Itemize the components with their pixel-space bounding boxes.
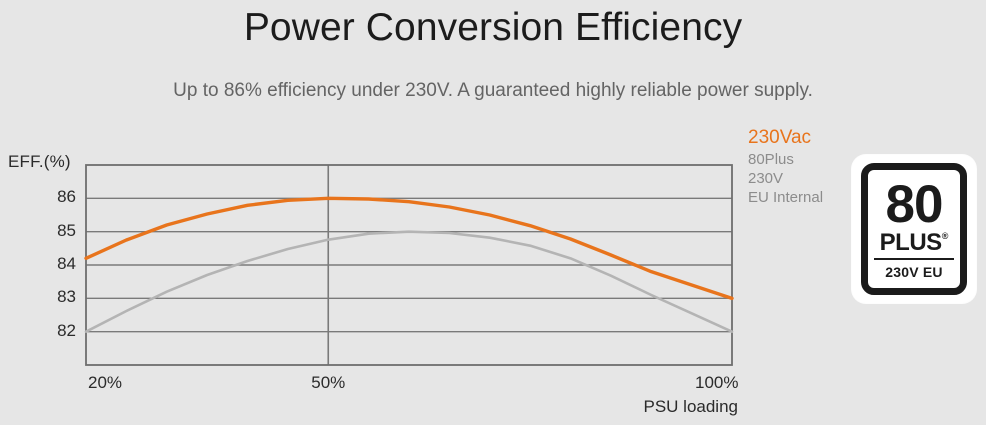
y-tick-label-4: 82 [36,321,76,341]
efficiency-infographic: Power Conversion Efficiency Up to 86% ef… [0,0,986,425]
y-tick-label-2: 84 [36,254,76,274]
badge-frame: 80 PLUS ® 230V EU [861,163,967,295]
legend-item-80plus-line-1: 230V [748,169,868,188]
badge-plus-row: PLUS ® [880,231,949,255]
80plus-certification-badge: 80 PLUS ® 230V EU [852,155,976,303]
legend-item-80plus-line-2: EU Internal [748,188,868,207]
legend-item-230vac: 230Vac [748,126,868,150]
y-tick-label-1: 85 [36,221,76,241]
page-title: Power Conversion Efficiency [0,4,986,52]
chart-legend: 230Vac 80Plus 230V EU Internal [748,126,868,207]
y-tick-label-0: 86 [36,187,76,207]
badge-divider [874,258,954,260]
y-tick-label-3: 83 [36,287,76,307]
x-tick-label-1: 50% [311,373,345,393]
registered-trademark-icon: ® [942,232,949,241]
x-axis-title: PSU loading [632,397,738,417]
x-tick-label-0: 20% [88,373,122,393]
badge-subtitle: 230V EU [885,264,942,280]
legend-item-80plus-line-0: 80Plus [748,150,868,169]
badge-plus-text: PLUS [880,231,942,255]
badge-number: 80 [886,176,943,233]
x-tick-label-2: 100% [695,373,738,393]
page-subtitle: Up to 86% efficiency under 230V. A guara… [0,78,986,104]
